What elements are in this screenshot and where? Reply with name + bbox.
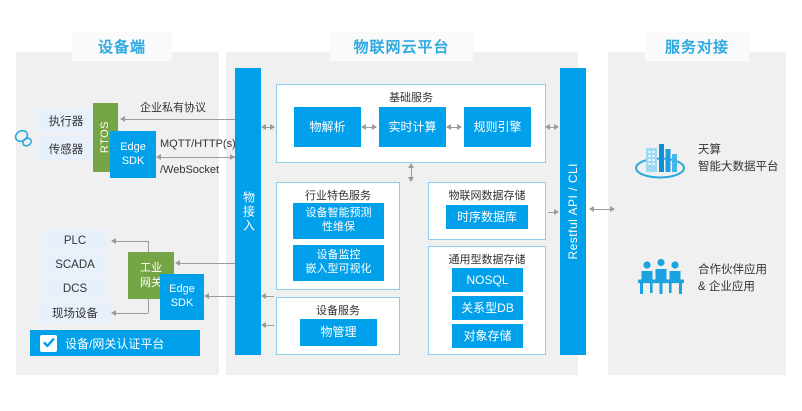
endpoint-actuator-label: 执行器	[49, 113, 84, 129]
edge-sdk-bottom-label-1: Edge	[169, 283, 195, 297]
industry-service-item-predictive[interactable]: 设备智能预测 性维保	[293, 203, 384, 239]
cert-platform-label: 设备/网关认证平台	[65, 335, 164, 352]
protocol-label-mqtt-text: MQTT/HTTP(s)	[160, 138, 236, 150]
industry-service-item-monitor-line2: 嵌入型可视化	[306, 263, 372, 277]
section-title-service-label: 服务对接	[665, 36, 729, 57]
arrow-base-lower-head-down	[408, 177, 414, 182]
field-bracket-bottom	[114, 313, 148, 314]
industry-service-item-monitor[interactable]: 设备监控 嵌入型可视化	[293, 245, 384, 281]
iot-storage-item-tsdb[interactable]: 时序数据库	[446, 205, 528, 229]
field-bracket-head-plc	[111, 238, 116, 244]
general-storage-title: 通用型数据存储	[429, 251, 545, 267]
partners-label: 合作伙伴应用 & 企业应用	[698, 262, 802, 295]
cloud-icon	[12, 128, 36, 150]
api-bar-label: Restful API / CLI	[566, 163, 581, 260]
base-service-item-parse[interactable]: 物解析	[294, 107, 361, 147]
protocol-label-mqtt: MQTT/HTTP(s)	[160, 138, 236, 150]
bigdata-platform-icon	[632, 138, 688, 182]
bigdata-platform-line1: 天算	[698, 142, 798, 159]
arrow-edgesdk-bottom-line	[207, 296, 235, 297]
bigdata-platform-line2: 智能大数据平台	[698, 159, 798, 176]
base-service-item-realtime-label: 实时计算	[388, 120, 436, 135]
iot-storage-title: 物联网数据存储	[429, 187, 545, 203]
field-system-device-label: 现场设备	[52, 305, 98, 321]
arrow-storage-api-head-right	[554, 209, 559, 215]
general-storage-item-nosql[interactable]: NOSQL	[452, 268, 523, 292]
arrow-base-1-head-left	[361, 124, 366, 130]
arrow-mqtt-head-left	[156, 154, 161, 160]
diagram-canvas: 设备端 物联网云平台 服务对接 执行器 传感器 RTOS Edge SDK 企业…	[0, 0, 802, 411]
protocol-label-private-text: 企业私有协议	[140, 102, 206, 114]
general-storage-item-object[interactable]: 对象存储	[452, 324, 523, 348]
general-storage-item-rdb[interactable]: 关系型DB	[452, 296, 523, 320]
field-bracket-top	[114, 241, 148, 242]
section-title-platform-label: 物联网云平台	[353, 36, 449, 57]
arrow-ingress-device-head-left	[261, 322, 266, 328]
endpoint-sensor-label: 传感器	[49, 141, 84, 157]
partners-line2: & 企业应用	[698, 279, 802, 296]
arrow-ingress-base-head-left	[261, 124, 266, 130]
field-system-device[interactable]: 现场设备	[37, 302, 113, 324]
field-system-plc-label: PLC	[64, 235, 86, 247]
edge-sdk-top-label-1: Edge	[120, 141, 146, 155]
service-side-panel	[608, 52, 786, 375]
section-title-service: 服务对接	[645, 32, 749, 61]
protocol-label-websocket-text: /WebSocket	[160, 164, 219, 176]
base-service-title: 基础服务	[277, 89, 545, 105]
base-service-item-rule-label: 规则引擎	[473, 120, 521, 135]
arrow-private-protocol-line	[123, 119, 235, 120]
arrow-gateway-head-left	[175, 260, 180, 266]
partners-icon	[634, 258, 688, 298]
ingress-bar-label: 物接入	[241, 191, 256, 233]
cert-platform-bar[interactable]: 设备/网关认证平台	[30, 330, 200, 356]
general-storage-item-nosql-label: NOSQL	[466, 273, 508, 288]
device-service-title: 设备服务	[277, 302, 399, 318]
bigdata-platform-label: 天算 智能大数据平台	[698, 142, 798, 175]
arrow-api-service-head-right	[610, 206, 615, 212]
field-system-scada[interactable]: SCADA	[42, 254, 108, 276]
edge-sdk-bottom-label-2: SDK	[171, 297, 194, 311]
arrow-base-2-head-right	[457, 124, 462, 130]
arrow-private-protocol-head-left	[120, 116, 125, 122]
section-title-platform: 物联网云平台	[330, 32, 473, 61]
field-bracket-head-device	[111, 310, 116, 316]
ingress-bar[interactable]: 物接入	[235, 68, 261, 355]
arrow-base-api-head-right	[554, 124, 559, 130]
partners-line1: 合作伙伴应用	[698, 262, 802, 279]
section-title-device-label: 设备端	[98, 36, 146, 57]
api-bar[interactable]: Restful API / CLI	[560, 68, 586, 355]
arrow-mqtt-line	[159, 157, 235, 158]
industry-service-title: 行业特色服务	[277, 187, 399, 203]
endpoint-actuator[interactable]: 执行器	[36, 109, 96, 133]
edge-sdk-top-box[interactable]: Edge SDK	[110, 131, 156, 178]
base-service-item-realtime[interactable]: 实时计算	[379, 107, 446, 147]
edge-sdk-top-label-2: SDK	[122, 155, 145, 169]
endpoint-sensor[interactable]: 传感器	[36, 137, 96, 161]
field-system-dcs[interactable]: DCS	[42, 278, 108, 300]
arrow-gateway-line	[178, 263, 235, 264]
industrial-gateway-label-2: 网关	[140, 276, 162, 290]
arrow-ingress-industry-head-left	[261, 293, 266, 299]
field-system-dcs-label: DCS	[63, 283, 87, 295]
field-system-plc[interactable]: PLC	[42, 230, 108, 252]
section-title-device: 设备端	[72, 32, 172, 61]
check-icon	[40, 335, 57, 352]
industrial-gateway-label-1: 工业	[140, 261, 162, 275]
arrow-api-service-head-left	[589, 206, 594, 212]
edge-sdk-bottom-box[interactable]: Edge SDK	[160, 274, 204, 320]
industry-service-item-predictive-line2: 性维保	[322, 221, 355, 235]
general-storage-item-object-label: 对象存储	[463, 329, 511, 344]
arrow-edgesdk-bottom-head-left	[204, 293, 209, 299]
iot-storage-item-tsdb-label: 时序数据库	[457, 210, 517, 225]
protocol-label-websocket: /WebSocket	[160, 164, 219, 176]
industry-service-item-monitor-line1: 设备监控	[317, 249, 361, 263]
device-service-item-thing-mgmt-label: 物管理	[320, 325, 356, 340]
arrow-base-2-head-left	[446, 124, 451, 130]
arrow-base-lower-head-up	[408, 163, 414, 168]
industry-service-item-predictive-line1: 设备智能预测	[306, 207, 372, 221]
field-system-scada-label: SCADA	[55, 259, 95, 271]
protocol-label-private: 企业私有协议	[140, 99, 206, 115]
arrow-base-1-head-right	[372, 124, 377, 130]
base-service-item-parse-label: 物解析	[309, 120, 345, 135]
device-service-item-thing-mgmt[interactable]: 物管理	[300, 319, 377, 346]
arrow-base-api-head-left	[545, 124, 550, 130]
base-service-item-rule[interactable]: 规则引擎	[464, 107, 531, 147]
general-storage-item-rdb-label: 关系型DB	[461, 301, 514, 316]
arrow-ingress-base-head-right	[270, 124, 275, 130]
